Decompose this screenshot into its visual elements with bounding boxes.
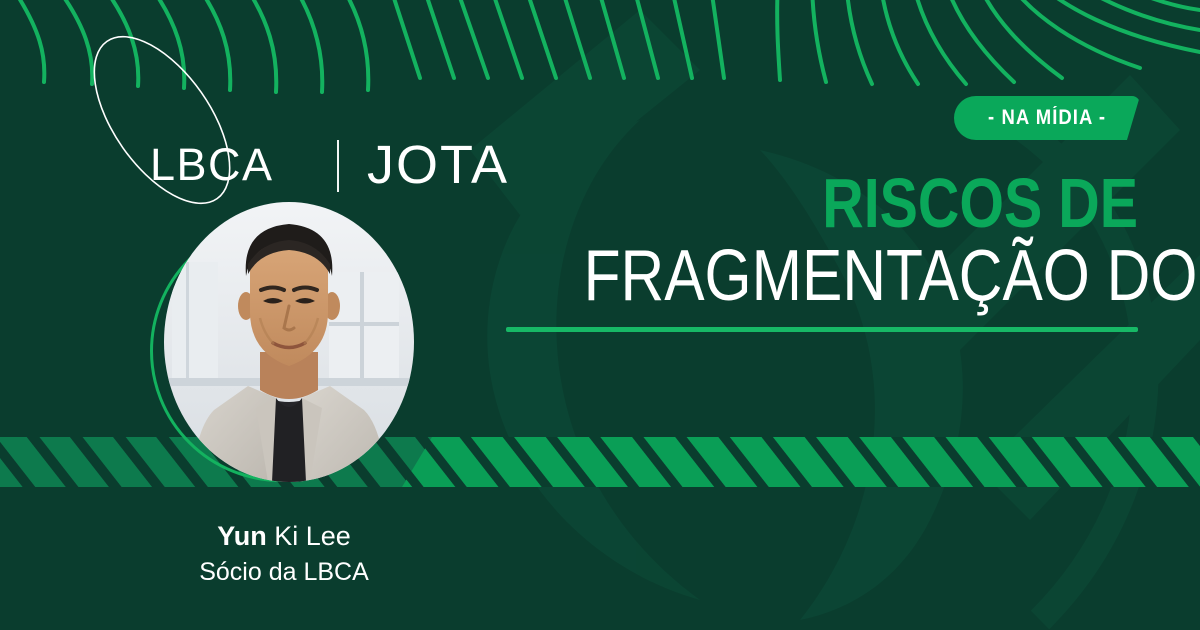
portrait-illustration — [164, 202, 414, 482]
person-name: Yun Ki Lee — [0, 520, 568, 554]
person-caption: Yun Ki Lee Sócio da LBCA — [0, 520, 568, 588]
badge-label: - NA MÍDIA - — [988, 106, 1106, 130]
portrait-block — [150, 196, 418, 506]
headline-line-2: FRAGMENTAÇÃO DO ESG — [584, 240, 1138, 313]
headline-underline — [506, 327, 1138, 332]
social-card: LBCA JOTA - NA MÍDIA - RISCOS DE FRAGMEN… — [0, 0, 1200, 630]
lbca-ellipse-icon — [62, 20, 262, 220]
portrait-photo — [164, 202, 414, 482]
person-name-first: Yun — [217, 521, 267, 551]
person-name-last: Ki Lee — [267, 521, 351, 551]
person-role: Sócio da LBCA — [0, 556, 568, 589]
na-midia-badge: - NA MÍDIA - — [954, 96, 1140, 140]
logo-divider — [337, 140, 339, 192]
badge-shape: - NA MÍDIA - — [954, 96, 1140, 140]
stripe-band-right — [402, 437, 1200, 487]
headline-line-1: RISCOS DE — [597, 170, 1138, 238]
headline-block: RISCOS DE FRAGMENTAÇÃO DO ESG — [478, 170, 1138, 332]
logo-lockup: LBCA JOTA — [62, 62, 482, 172]
lbca-logo-text: LBCA — [150, 142, 274, 187]
